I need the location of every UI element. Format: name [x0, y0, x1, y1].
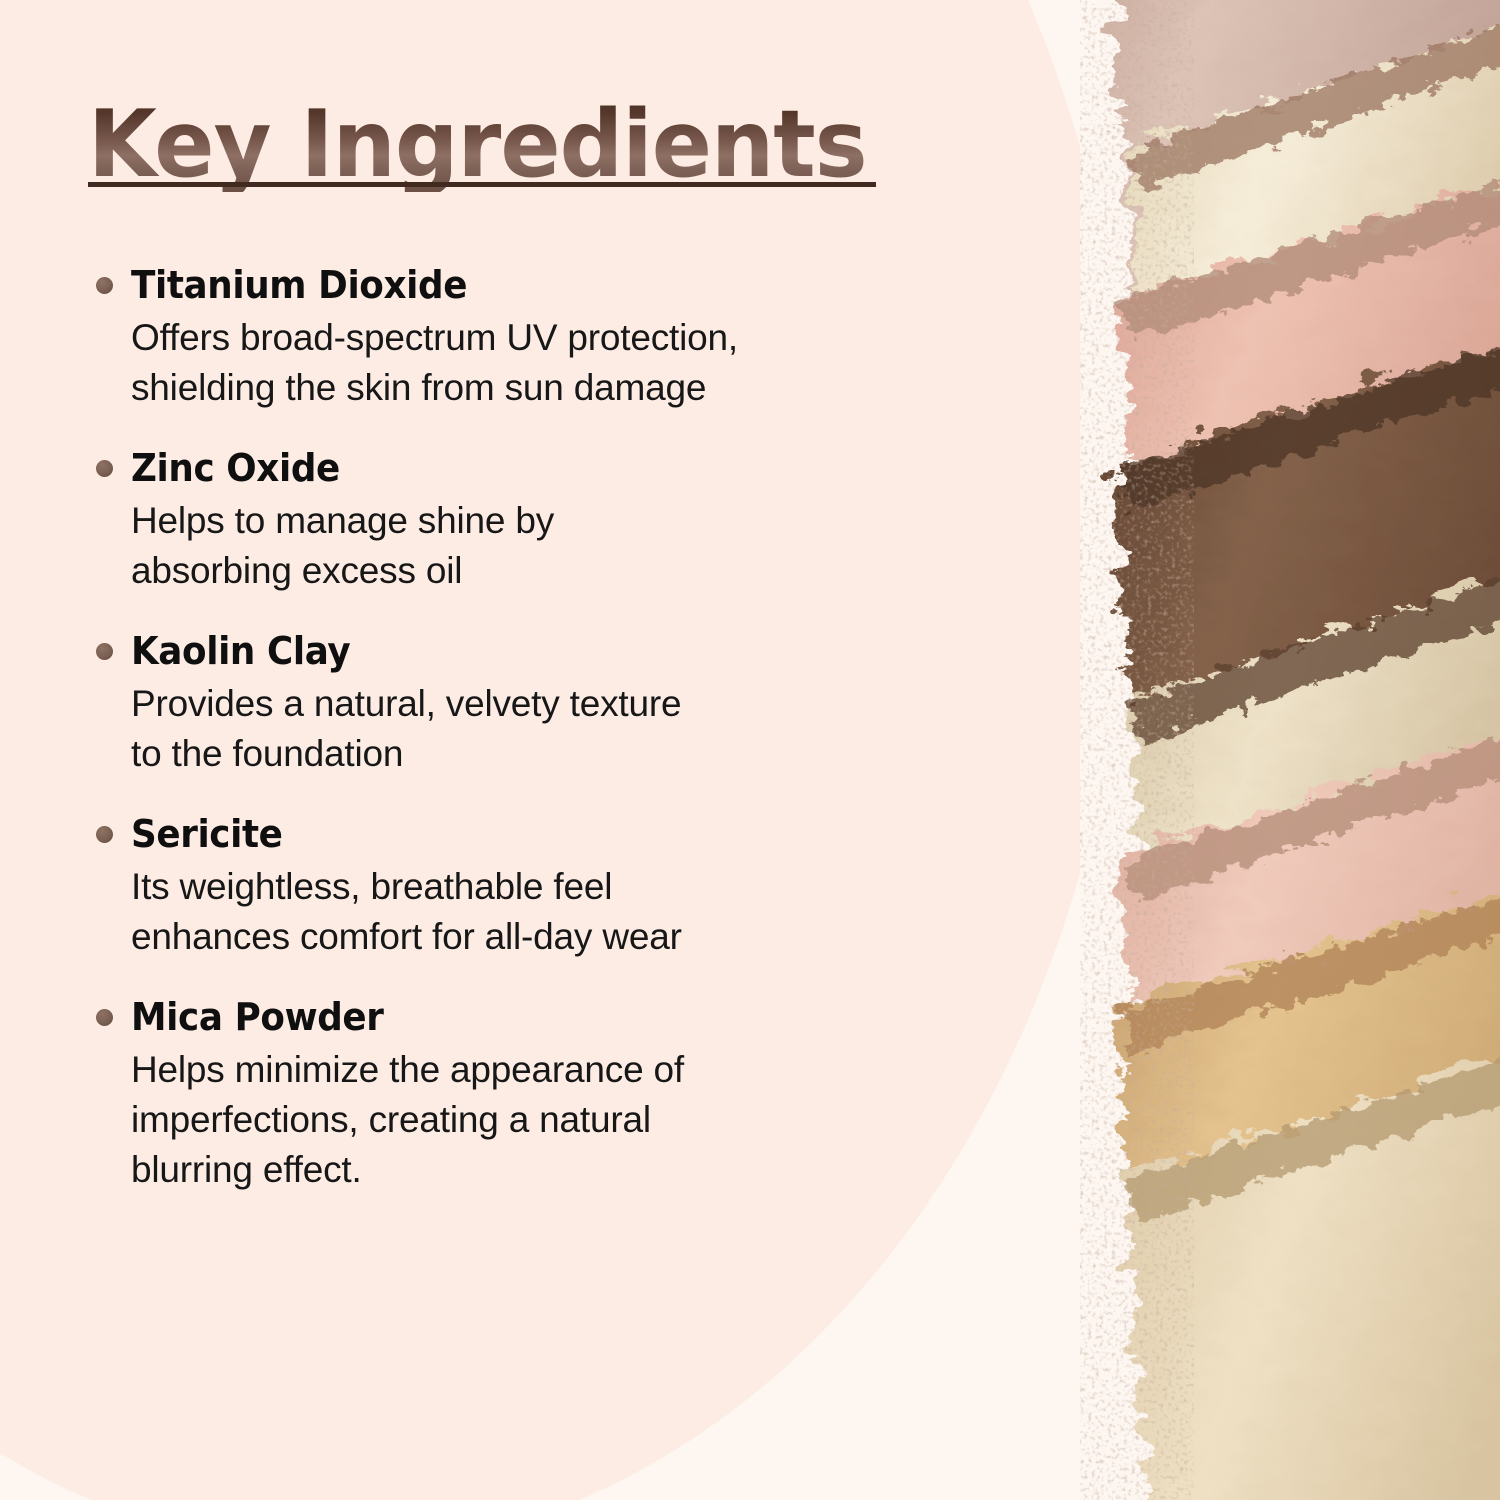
ingredient-description: Its weightless, breathable feel enhances…: [131, 862, 961, 962]
bullet-dot-icon: [96, 826, 113, 843]
page-title: Key Ingredients: [88, 96, 948, 192]
ingredients-list: Titanium Dioxide Offers broad-spectrum U…: [0, 262, 1000, 1195]
bullet-dot-icon: [96, 277, 113, 294]
ingredient-description: Helps minimize the appearance of imperfe…: [131, 1045, 961, 1195]
bullet-dot-icon: [96, 643, 113, 660]
ingredient-item-titanium-dioxide: Titanium Dioxide Offers broad-spectrum U…: [0, 262, 1000, 413]
ingredient-name: Zinc Oxide: [131, 445, 948, 492]
bullet-dot-icon: [96, 1009, 113, 1026]
page-title-wrapper: Key Ingredients: [88, 96, 988, 192]
ingredient-description: Provides a natural, velvety texture to t…: [131, 679, 961, 779]
ingredient-name: Kaolin Clay: [131, 628, 948, 675]
key-ingredients-infographic: Key Ingredients Titanium Dioxide Offers …: [0, 0, 1500, 1500]
powder-swatch-image: [1080, 0, 1500, 1500]
ingredient-description: Offers broad-spectrum UV protection, shi…: [131, 313, 961, 413]
ingredient-name: Sericite: [131, 811, 948, 858]
ingredient-item-zinc-oxide: Zinc Oxide Helps to manage shine by abso…: [0, 445, 1000, 596]
content-column: Key Ingredients Titanium Dioxide Offers …: [0, 0, 1060, 1500]
ingredient-name: Mica Powder: [131, 994, 948, 1041]
title-underline: [88, 182, 876, 187]
ingredient-item-kaolin-clay: Kaolin Clay Provides a natural, velvety …: [0, 628, 1000, 779]
bullet-dot-icon: [96, 460, 113, 477]
ingredient-item-sericite: Sericite Its weightless, breathable feel…: [0, 811, 1000, 962]
ingredient-item-mica-powder: Mica Powder Helps minimize the appearanc…: [0, 994, 1000, 1195]
ingredient-description: Helps to manage shine by absorbing exces…: [131, 496, 961, 596]
ingredient-name: Titanium Dioxide: [131, 262, 948, 309]
